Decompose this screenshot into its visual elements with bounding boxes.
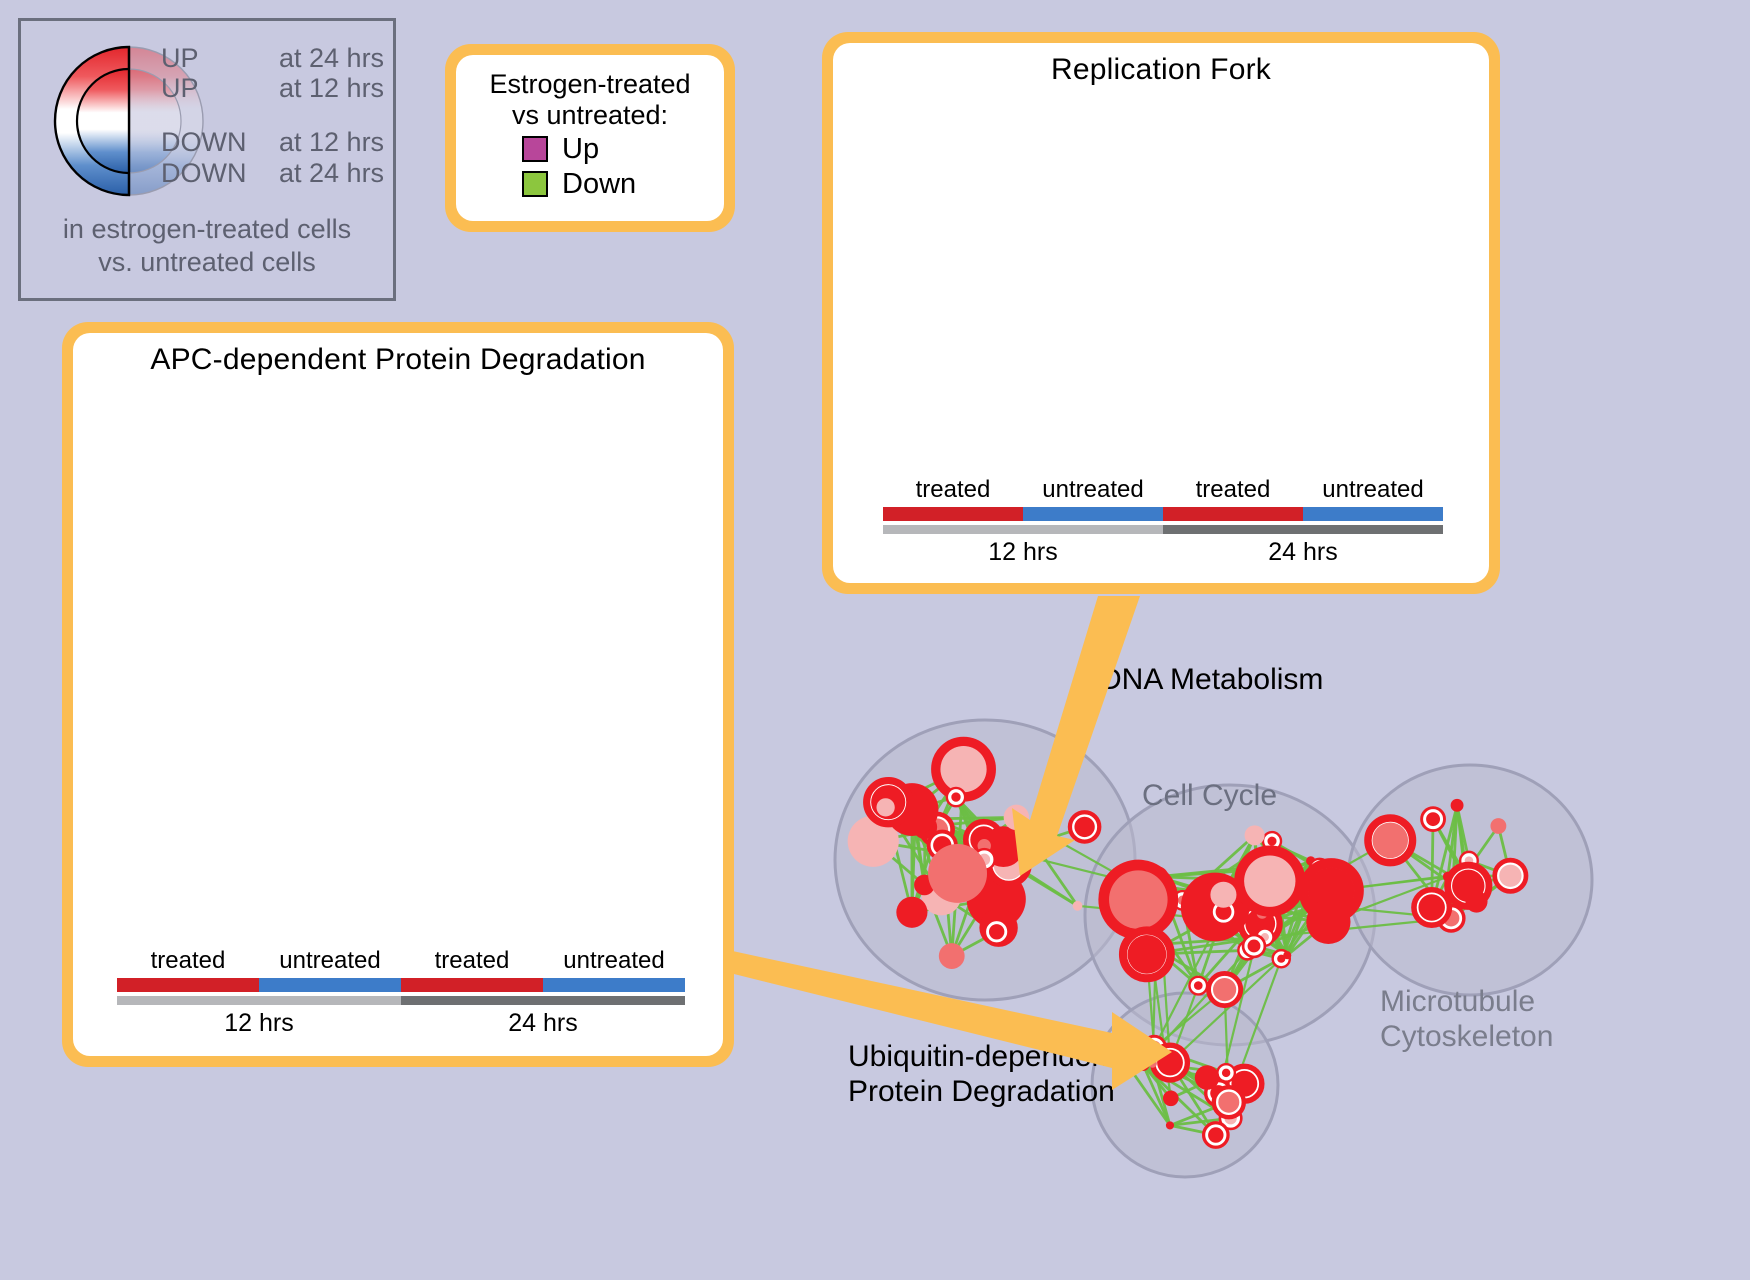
legend-row-down-24: DOWN at 24 hrs [161, 158, 391, 188]
network-node[interactable] [1283, 951, 1291, 959]
untreated-bar [259, 978, 401, 992]
network-node[interactable] [1166, 1121, 1174, 1129]
network-node[interactable] [1004, 805, 1029, 830]
group-label: treated [117, 947, 259, 975]
network-node[interactable] [1240, 851, 1300, 911]
cluster-label-microtubule: Microtubule Cytoskeleton [1380, 985, 1553, 1055]
network-node[interactable] [896, 897, 927, 928]
replication-fork-card: Replication Fork treated untreated treat… [822, 32, 1500, 594]
group-label: untreated [543, 947, 685, 975]
column-group-labels: treated untreated treated untreated [883, 476, 1443, 504]
network-node[interactable] [1414, 890, 1449, 925]
time-label: 24 hrs [401, 1009, 685, 1038]
up-colour-swatch [522, 136, 548, 162]
key-title-line-1: Estrogen-treated [466, 69, 714, 100]
network-node[interactable] [1368, 818, 1413, 863]
legend-time: at 24 hrs [279, 158, 384, 188]
down-label: Down [562, 168, 658, 201]
down-colour-swatch [522, 171, 548, 197]
legend-time: at 12 hrs [279, 127, 384, 157]
colour-wheel-caption: in estrogen-treated cells vs. untreated … [21, 213, 393, 279]
untreated-bar [543, 978, 685, 992]
network-node[interactable] [1214, 1087, 1244, 1117]
network-node[interactable] [939, 943, 965, 969]
key-title-line-2: vs untreated: [466, 100, 714, 131]
network-node[interactable] [1189, 977, 1207, 995]
timepoint-labels: 12 hrs 24 hrs [117, 1009, 685, 1038]
network-node[interactable] [1125, 1064, 1137, 1076]
column-group-labels: treated untreated treated untreated [117, 947, 685, 975]
timepoint-24-bar [401, 996, 685, 1005]
network-node[interactable] [1422, 808, 1445, 831]
key-entry-up: Up [466, 133, 714, 166]
apc-axis: treated untreated treated untreated 12 h… [117, 947, 685, 1038]
cluster-label-ubiquitin: Ubiquitin-dependent Protein Degradation [848, 1040, 1117, 1110]
legend-row-up-12: UP at 12 hrs [161, 73, 391, 103]
network-node[interactable] [1136, 1058, 1149, 1071]
legend-row-up-24: UP at 24 hrs [161, 43, 391, 73]
legend-direction: DOWN [161, 158, 279, 188]
group-label: treated [401, 947, 543, 975]
network-node[interactable] [1195, 1065, 1220, 1089]
treated-bar [1163, 507, 1303, 521]
legend-row-down-12: DOWN at 12 hrs [161, 127, 391, 157]
network-node[interactable] [1105, 866, 1173, 934]
network-node[interactable] [1495, 860, 1526, 891]
replication-fork-title: Replication Fork [833, 43, 1489, 87]
timepoint-colour-bar [117, 996, 685, 1005]
timepoint-labels: 12 hrs 24 hrs [883, 538, 1443, 567]
group-label: treated [883, 476, 1023, 504]
legend-time: at 24 hrs [279, 43, 384, 73]
apc-degradation-card: APC-dependent Protein Degradation treate… [62, 322, 734, 1067]
network-node[interactable] [1204, 1123, 1228, 1147]
network-node[interactable] [1163, 1090, 1179, 1106]
colour-wheel-legend: UP at 24 hrs UP at 12 hrs DOWN at 12 hrs… [18, 18, 396, 301]
network-node[interactable] [1465, 890, 1487, 912]
untreated-bar [1303, 507, 1443, 521]
network-node[interactable] [1073, 901, 1083, 911]
network-node[interactable] [1245, 825, 1265, 845]
group-label: untreated [1303, 476, 1443, 504]
network-node[interactable] [984, 920, 1008, 944]
timepoint-colour-bar [883, 525, 1443, 534]
network-node[interactable] [1243, 935, 1265, 957]
treated-bar [401, 978, 543, 992]
legend-direction: UP [161, 73, 279, 103]
key-entry-down: Down [466, 168, 714, 201]
replication-fork-axis: treated untreated treated untreated 12 h… [883, 476, 1443, 567]
pathway-network-diagram: DNA Metabolism Cell Cycle Microtubule Cy… [780, 615, 1740, 1275]
network-node[interactable] [1209, 973, 1241, 1005]
legend-time: at 12 hrs [279, 73, 384, 103]
up-label: Up [562, 133, 658, 166]
treatment-colour-bar [117, 978, 685, 992]
network-node[interactable] [928, 844, 987, 903]
treatment-colour-bar [883, 507, 1443, 521]
network-node[interactable] [1123, 930, 1171, 978]
time-label: 24 hrs [1163, 538, 1443, 567]
network-node[interactable] [1451, 799, 1464, 812]
treated-bar [883, 507, 1023, 521]
timepoint-12-bar [117, 996, 401, 1005]
network-node[interactable] [876, 798, 894, 816]
treated-bar [117, 978, 259, 992]
cluster-label-cell-cycle: Cell Cycle [1142, 779, 1277, 813]
network-node[interactable] [1070, 812, 1099, 841]
expression-key-card: Estrogen-treated vs untreated: Up Down [445, 44, 735, 232]
network-node[interactable] [936, 742, 991, 797]
group-label: untreated [1023, 476, 1163, 504]
network-node[interactable] [1153, 1045, 1188, 1080]
cluster-label-dna-metabolism: DNA Metabolism [1100, 663, 1323, 697]
time-label: 12 hrs [883, 538, 1163, 567]
legend-direction: UP [161, 43, 279, 73]
caption-line-1: in estrogen-treated cells [21, 213, 393, 246]
caption-line-2: vs. untreated cells [21, 246, 393, 279]
network-node[interactable] [1306, 900, 1350, 944]
network-node[interactable] [947, 788, 965, 806]
network-node[interactable] [1148, 1059, 1157, 1068]
colour-wheel-row-labels: UP at 24 hrs UP at 12 hrs DOWN at 12 hrs… [161, 43, 391, 188]
apc-title: APC-dependent Protein Degradation [73, 333, 723, 377]
legend-direction: DOWN [161, 127, 279, 157]
group-label: untreated [259, 947, 401, 975]
network-node[interactable] [1210, 882, 1236, 908]
network-node[interactable] [1490, 818, 1506, 834]
group-label: treated [1163, 476, 1303, 504]
timepoint-24-bar [1163, 525, 1443, 534]
timepoint-12-bar [883, 525, 1163, 534]
untreated-bar [1023, 507, 1163, 521]
time-label: 12 hrs [117, 1009, 401, 1038]
